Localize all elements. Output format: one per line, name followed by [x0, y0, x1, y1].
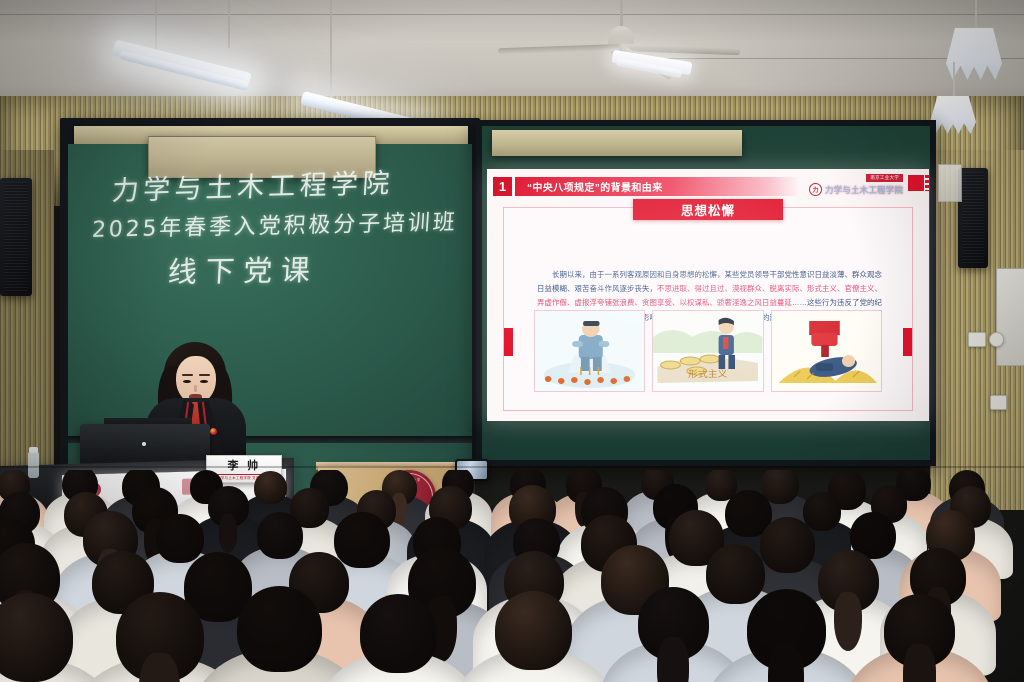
slide-illustration-2: 形式主义 [652, 310, 763, 392]
audience-member-head [803, 492, 842, 531]
slide-decor-square [908, 175, 924, 191]
slide-illustrations: 形式主义 [534, 310, 882, 392]
lecture-hall-photo: 力学与土木工程学院 2025年春季入党积极分子培训班 线下党课 1 “中央八项规… [0, 0, 1024, 682]
audience [0, 470, 1024, 682]
audience-member-head [334, 512, 389, 569]
illustration-caption: 形式主义 [688, 368, 728, 379]
wall-panel-box [996, 268, 1024, 366]
audience-member-head [0, 593, 73, 682]
power-outlet[interactable] [990, 395, 1007, 410]
presenter-face [176, 356, 216, 404]
slide-tab-right [903, 328, 912, 356]
audience-member-head [257, 512, 303, 559]
wall-speaker-left [0, 178, 32, 296]
wall-vent [938, 164, 962, 202]
slide-banner-title: 思想松懈 [633, 199, 783, 220]
slide-logo-label: 力学与土木工程学院 [825, 184, 903, 196]
slide-illustration-3 [771, 310, 882, 392]
chalk-text-line1: 力学与土木工程学院 [111, 161, 395, 208]
slide-logo-mark-icon: 力 [809, 183, 822, 196]
slide-number-badge: 1 [493, 177, 512, 196]
wall-speaker-right [958, 168, 988, 268]
slide-tab-left [504, 328, 513, 356]
slide-school-logo: 南京工业大学 力 力学与土木工程学院 [809, 174, 903, 196]
audience-member-ponytail [834, 592, 862, 651]
monitor-power-led [142, 442, 146, 446]
audience-member-ponytail [768, 644, 804, 682]
audience-member-head [156, 514, 204, 563]
chalk-text-line3: 线下党课 [167, 247, 320, 291]
party-emblem-pin-icon [210, 428, 217, 435]
projected-slide: 1 “中央八项规定”的背景和由来 南京工业大学 力 力学与土木工程学院 长期以来… [487, 169, 929, 421]
audience-member-head [760, 517, 815, 573]
slide-illustration-1 [534, 310, 645, 392]
right-board-valance [492, 130, 742, 156]
light-switch[interactable] [968, 332, 986, 347]
slide-content-panel: 长期以来，由于一系列客观原因和自身思想的松懈，某些党员领导干部党性意识日益淡薄、… [503, 207, 913, 411]
audience-member-head [495, 591, 573, 670]
audience-member-head [360, 594, 438, 673]
wall-knob[interactable] [989, 332, 1004, 347]
audience-member-head [706, 544, 765, 604]
slide-logo-top-text: 南京工业大学 [866, 174, 903, 182]
audience-member-ponytail [903, 644, 936, 682]
slide-decor-bars [925, 175, 929, 191]
audience-member-head [237, 586, 322, 672]
audience-member-ponytail [657, 637, 690, 682]
slide-header-title: “中央八项规定”的背景和由来 [515, 177, 800, 196]
audience-member-head [254, 471, 286, 504]
